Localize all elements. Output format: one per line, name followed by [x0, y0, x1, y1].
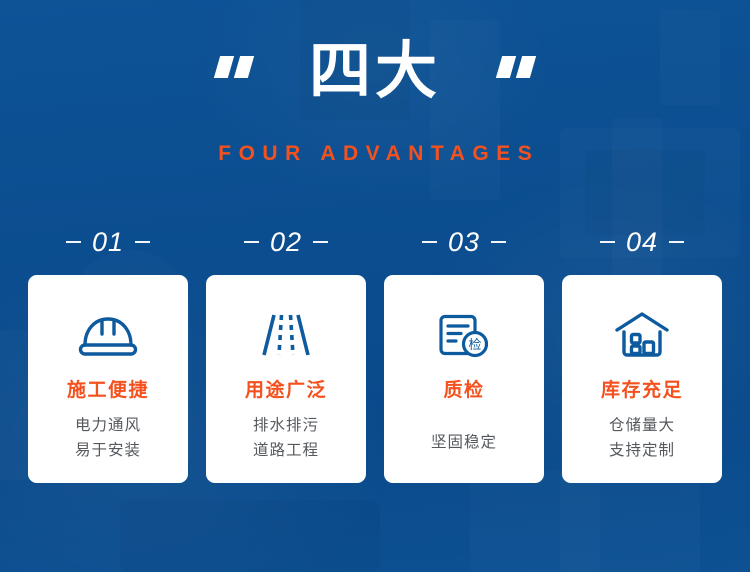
page-title: 四大 — [309, 40, 441, 102]
dash-left-icon — [422, 241, 437, 243]
advantage-title-04: 库存充足 — [601, 381, 683, 400]
dash-right-icon — [491, 241, 506, 243]
advantage-number-01: 01 — [66, 222, 150, 262]
advantage-column-03: 03 检 质检 坚固稳定 — [384, 222, 544, 483]
advantage-title-03: 质检 — [443, 381, 484, 400]
advantage-card-04[interactable]: 库存充足 仓储量大 支持定制 — [562, 275, 722, 483]
advantage-desc-line2: 易于安装 — [75, 438, 141, 463]
advantage-desc-03: 坚固稳定 — [431, 430, 497, 455]
inspection-document-icon: 检 — [437, 301, 491, 369]
advantage-number-03: 03 — [422, 222, 506, 262]
advantage-cards: 01 施工便捷 电力通风 易于安装 — [28, 222, 722, 483]
dash-left-icon — [244, 241, 259, 243]
advantage-desc-04: 仓储量大 支持定制 — [609, 413, 675, 463]
four-advantages-banner: 四大 FOUR ADVANTAGES 01 — [0, 0, 750, 572]
advantage-number-02: 02 — [244, 222, 328, 262]
page-subtitle: FOUR ADVANTAGES — [0, 142, 750, 166]
advantage-card-02[interactable]: 用途广泛 排水排污 道路工程 — [206, 275, 366, 483]
advantage-number-label: 01 — [92, 227, 124, 258]
hard-hat-icon — [77, 301, 139, 369]
advantage-desc-line1: 仓储量大 — [609, 413, 675, 438]
advantage-number-04: 04 — [600, 222, 684, 262]
road-icon — [260, 301, 312, 369]
dash-left-icon — [600, 241, 615, 243]
advantage-title-01: 施工便捷 — [67, 381, 149, 400]
advantage-number-label: 04 — [626, 227, 658, 258]
stamp-text: 检 — [468, 338, 481, 353]
dash-right-icon — [669, 241, 684, 243]
advantage-desc-line1: 电力通风 — [75, 413, 141, 438]
advantage-number-label: 03 — [448, 227, 480, 258]
advantage-desc-line1: 坚固稳定 — [431, 430, 497, 455]
warehouse-icon — [613, 301, 671, 369]
dash-right-icon — [313, 241, 328, 243]
advantage-desc-line2: 道路工程 — [253, 438, 319, 463]
advantage-column-02: 02 用途广泛 排水排污 道路工程 — [206, 222, 366, 483]
advantage-desc-01: 电力通风 易于安装 — [75, 413, 141, 463]
quote-close-icon — [499, 56, 533, 78]
advantage-desc-line1: 排水排污 — [253, 413, 319, 438]
advantage-desc-line2: 支持定制 — [609, 438, 675, 463]
advantage-card-03[interactable]: 检 质检 坚固稳定 — [384, 275, 544, 483]
banner-header: 四大 FOUR ADVANTAGES — [0, 34, 750, 166]
advantage-title-02: 用途广泛 — [245, 381, 327, 400]
dash-left-icon — [66, 241, 81, 243]
dash-right-icon — [135, 241, 150, 243]
title-row: 四大 — [0, 34, 750, 108]
advantage-desc-02: 排水排污 道路工程 — [253, 413, 319, 463]
advantage-column-04: 04 库存充足 仓储量大 支持定制 — [562, 222, 722, 483]
advantage-card-01[interactable]: 施工便捷 电力通风 易于安装 — [28, 275, 188, 483]
advantage-number-label: 02 — [270, 227, 302, 258]
quote-open-icon — [217, 56, 251, 78]
advantage-column-01: 01 施工便捷 电力通风 易于安装 — [28, 222, 188, 483]
